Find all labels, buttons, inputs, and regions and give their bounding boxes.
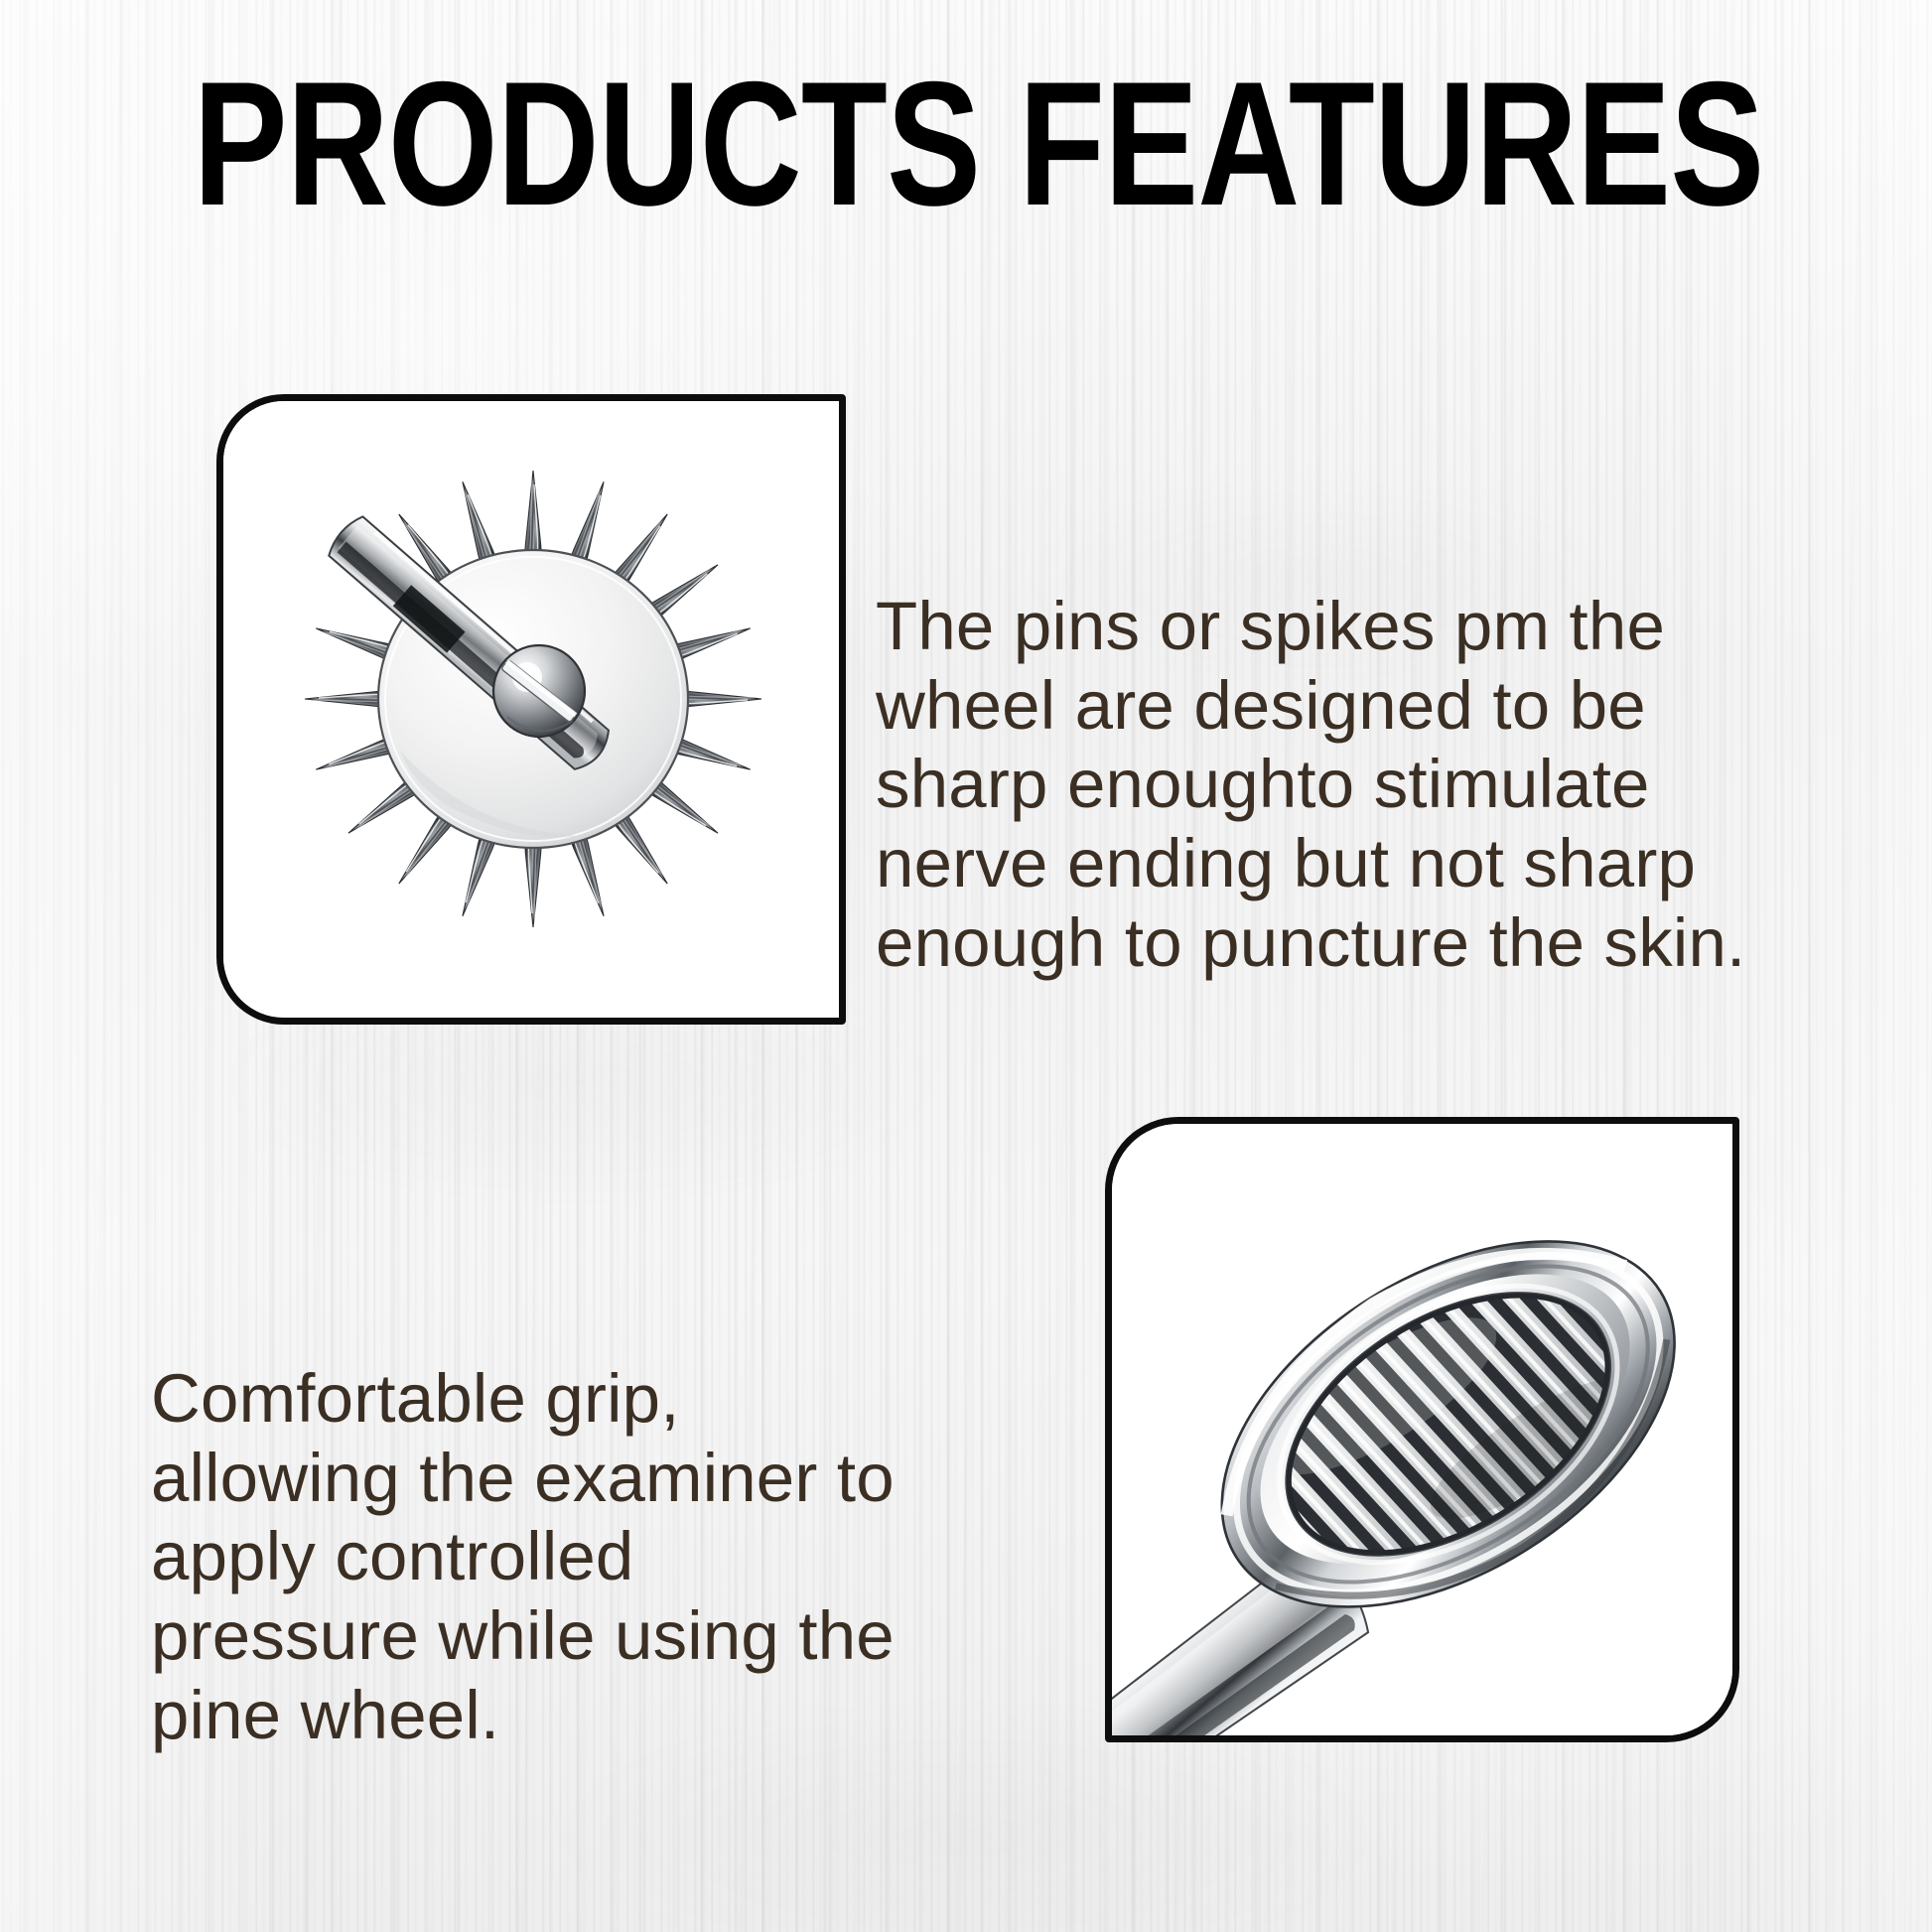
feature-image-frame-grip — [1105, 1117, 1739, 1742]
feature-image-frame-pinwheel — [216, 394, 846, 1025]
spiked-pinwheel-photo — [223, 401, 839, 1017]
page-title: PRODUCTS FEATURES — [194, 56, 1739, 232]
feature-text-pins-spikes: The pins or spikes pm the wheel are desi… — [876, 587, 1769, 982]
feature-text-comfortable-grip: Comfortable grip, allowing the examiner … — [151, 1359, 917, 1754]
poster-canvas: PRODUCTS FEATURES — [0, 0, 1932, 1932]
ribbed-handle-photo — [1112, 1124, 1732, 1742]
